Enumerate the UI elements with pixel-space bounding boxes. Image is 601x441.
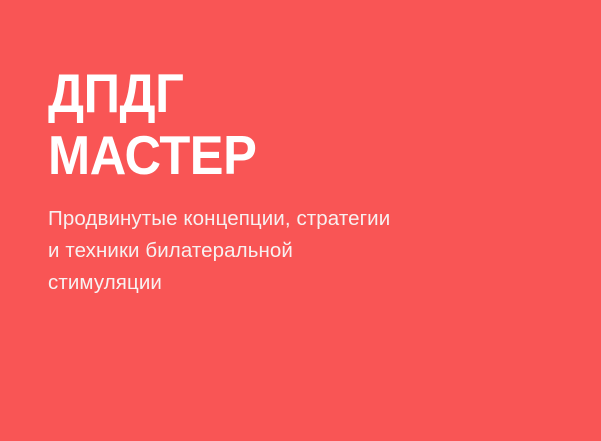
- page-subtitle-line-3: стимуляции: [48, 267, 548, 299]
- page-title: ДПДГ МАСТЕР: [48, 62, 508, 186]
- page-title-line-1: ДПДГ: [48, 62, 508, 124]
- page-subtitle-line-1: Продвинутые концепции, стратегии: [48, 203, 548, 235]
- title-slide: ДПДГ МАСТЕР Продвинутые концепции, страт…: [0, 0, 601, 441]
- page-title-line-2: МАСТЕР: [48, 124, 508, 186]
- page-subtitle-line-2: и техники билатеральной: [48, 235, 548, 267]
- page-subtitle: Продвинутые концепции, стратегии и техни…: [48, 203, 548, 299]
- slide-text-block: ДПДГ МАСТЕР Продвинутые концепции, страт…: [48, 62, 548, 299]
